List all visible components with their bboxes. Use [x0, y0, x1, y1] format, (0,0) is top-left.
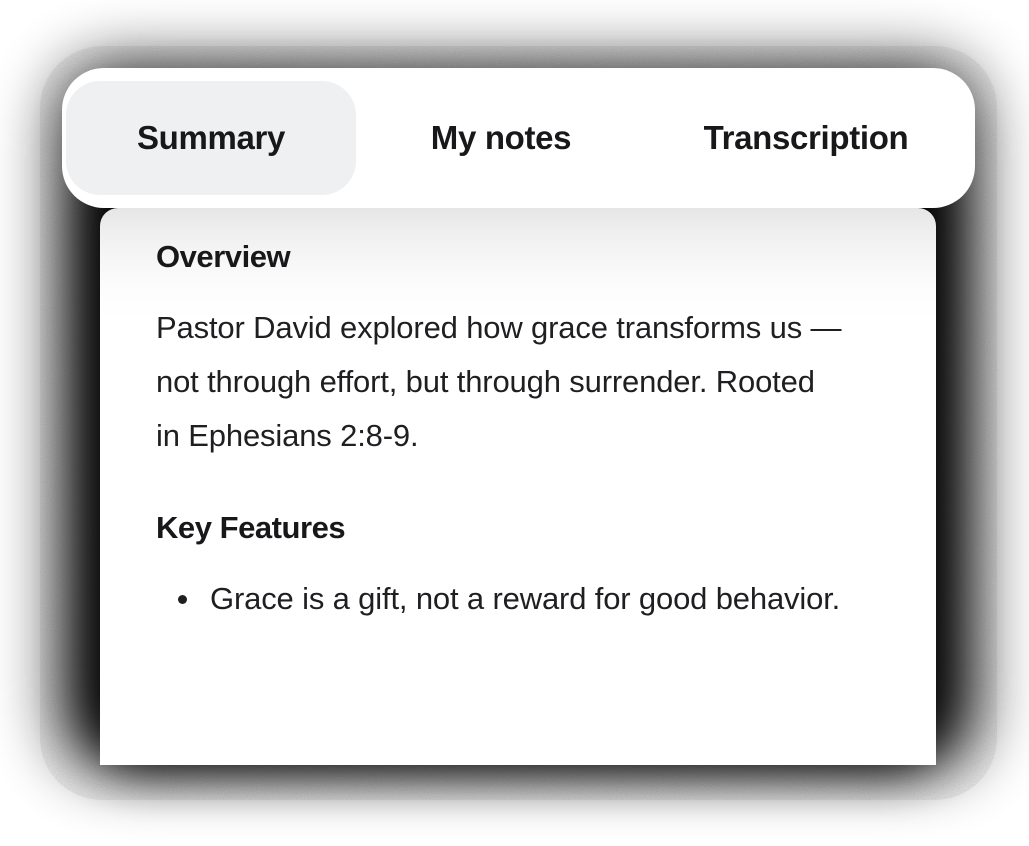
tab-summary[interactable]: Summary — [66, 81, 356, 195]
tab-my-notes[interactable]: My notes — [356, 81, 646, 195]
key-features-heading: Key Features — [156, 463, 880, 546]
list-item: Grace is a gift, not a reward for good b… — [156, 572, 880, 626]
key-features-list: Grace is a gift, not a reward for good b… — [156, 572, 880, 626]
overview-paragraph: Pastor David explored how grace transfor… — [156, 301, 846, 463]
bullet-icon — [178, 595, 187, 604]
tab-transcription[interactable]: Transcription — [646, 81, 966, 195]
overview-heading: Overview — [156, 208, 880, 275]
summary-content-panel: Overview Pastor David explored how grace… — [100, 208, 936, 765]
summary-content-inner: Overview Pastor David explored how grace… — [100, 208, 936, 626]
list-item-label: Grace is a gift, not a reward for good b… — [210, 581, 840, 616]
tab-bar: Summary My notes Transcription — [62, 68, 975, 208]
app-stage: Overview Pastor David explored how grace… — [0, 0, 1029, 846]
